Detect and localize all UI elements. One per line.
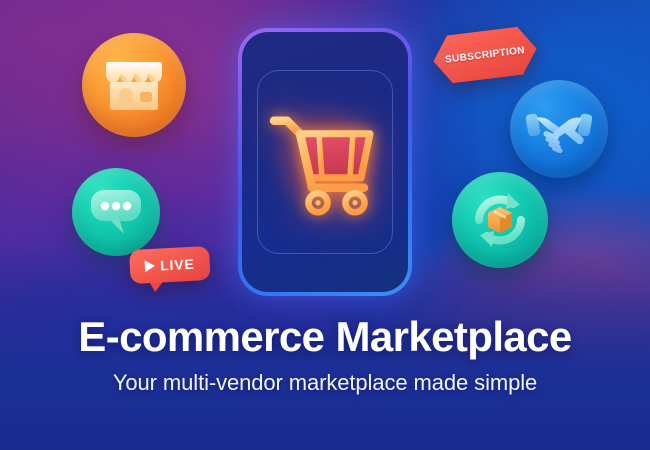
play-icon <box>145 260 156 273</box>
handshake-icon[interactable] <box>510 80 608 178</box>
live-badge-label: LIVE <box>160 256 195 274</box>
live-badge[interactable]: LIVE <box>129 246 211 290</box>
marketplace-app-card[interactable] <box>238 28 412 296</box>
return-package-icon[interactable] <box>452 172 548 268</box>
shopping-cart-icon[interactable] <box>266 104 384 216</box>
card-inner-surface <box>242 32 408 292</box>
hero-banner: SUBSCRIPTION LIVE <box>0 0 650 450</box>
chat-bubble-icon[interactable] <box>72 168 160 256</box>
storefront-icon[interactable] <box>82 33 186 137</box>
page-subtitle: Your multi-vendor marketplace made simpl… <box>0 370 650 396</box>
page-title: E-commerce Marketplace <box>0 313 650 361</box>
